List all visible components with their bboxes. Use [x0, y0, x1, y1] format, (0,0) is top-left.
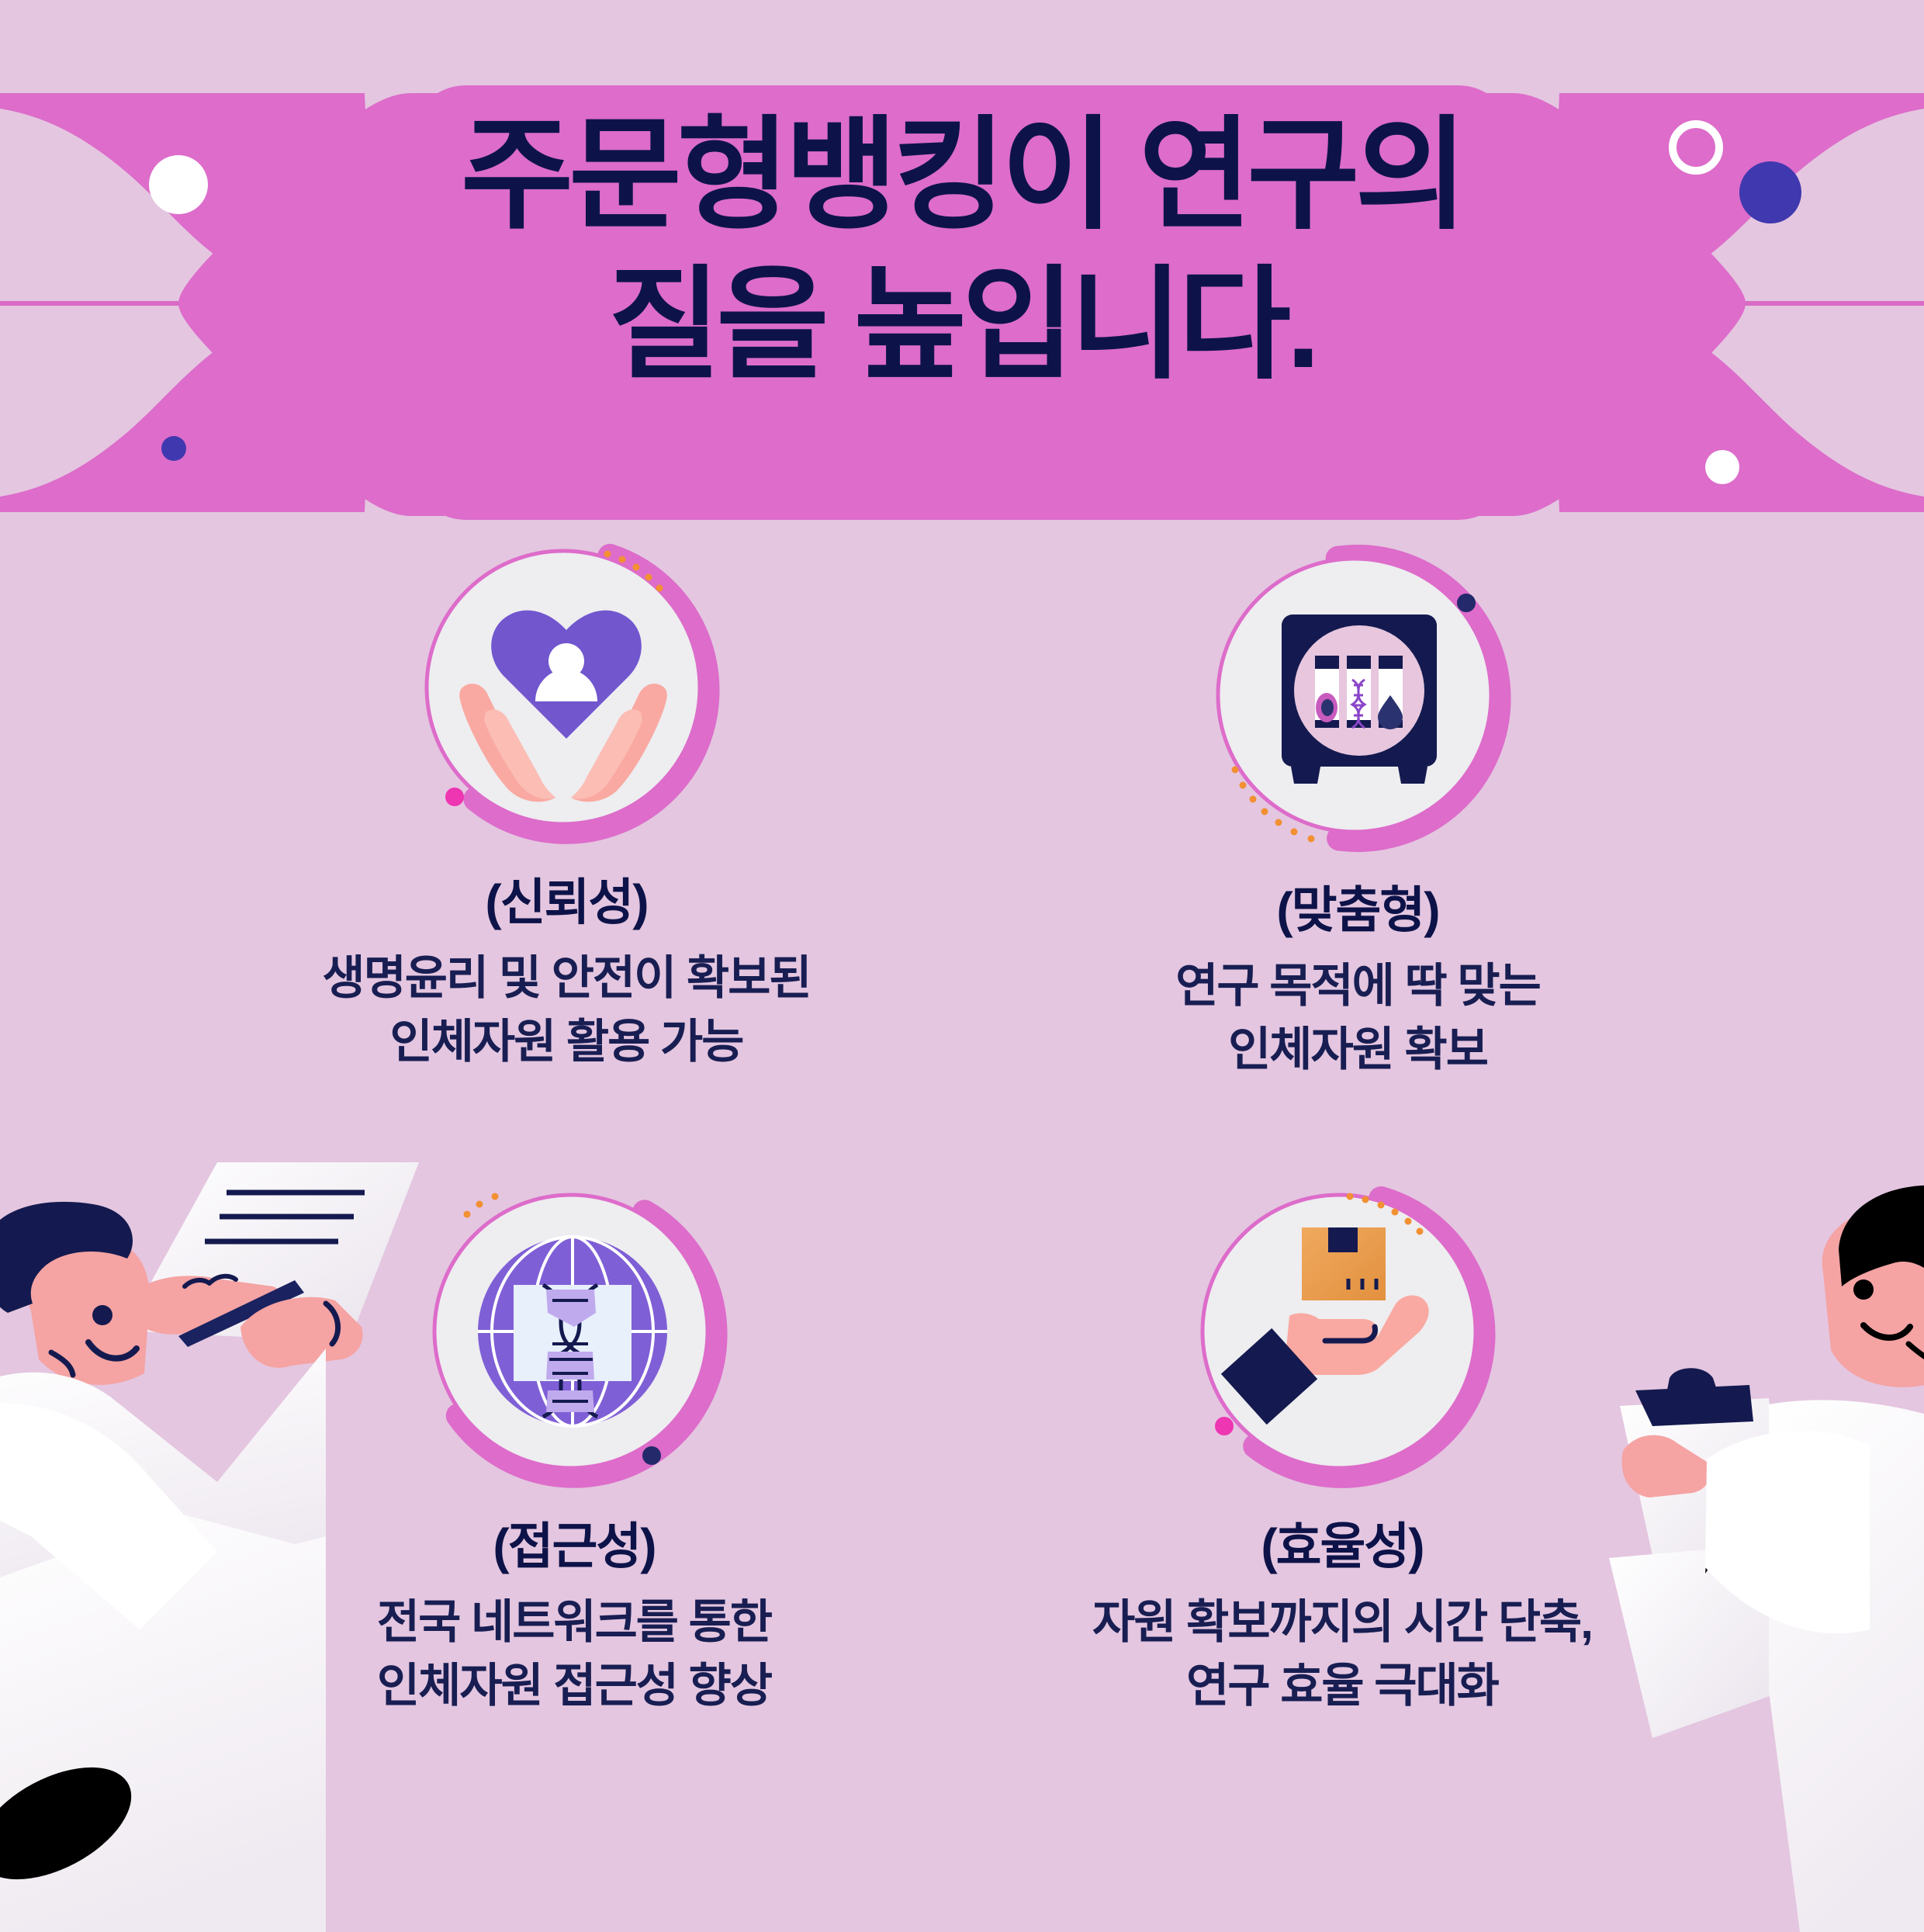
white-dot-small-icon — [1705, 450, 1739, 484]
box-label — [1328, 1227, 1358, 1252]
hand-delivery-box-icon — [1187, 1179, 1497, 1490]
icon-container-efficiency — [1187, 1179, 1497, 1490]
card-desc-trust: 생명윤리 및 안전이 확보된 인체자원 활용 가능 — [217, 947, 915, 1075]
small-blue-dot-icon — [161, 436, 186, 461]
icon-container-trust — [411, 535, 721, 846]
card-title-access: (접근성) — [225, 1518, 923, 1577]
card-desc-line-2: 인체자원 접근성 향상 — [225, 1654, 923, 1719]
banner-body — [411, 85, 1513, 520]
freezer-foot-right — [1398, 767, 1427, 784]
card-desc-line-2: 인체자원 확보 — [1009, 1018, 1707, 1082]
specimen-tubes — [1315, 656, 1403, 729]
freezer-foot-left — [1291, 767, 1320, 784]
card-title-custom: (맞춤형) — [1009, 881, 1707, 940]
blue-dot-icon — [1739, 161, 1801, 223]
card-desc-line-1: 연구 목적에 딱 맞는 — [1009, 954, 1707, 1019]
card-trust: (신뢰성) 생명윤리 및 안전이 확보된 인체자원 활용 가능 — [217, 535, 915, 1075]
infographic-canvas: 주문형뱅킹이 연구의 질을 높입니다. — [0, 0, 1924, 1924]
card-custom: (맞춤형) 연구 목적에 딱 맞는 인체자원 확보 — [1009, 543, 1707, 1082]
card-desc-line-1: 전국 네트워크를 통한 — [225, 1591, 923, 1655]
card-title-trust: (신뢰성) — [217, 874, 915, 933]
white-dot-large-icon — [149, 155, 208, 214]
card-efficiency: (효율성) 자원 확보까지의 시간 단축, 연구 효율 극대화 — [993, 1179, 1691, 1719]
eye — [1853, 1279, 1874, 1300]
eye — [92, 1305, 112, 1325]
card-desc-line-2: 연구 효율 극대화 — [993, 1654, 1691, 1719]
card-access: (접근성) 전국 네트워크를 통한 인체자원 접근성 향상 — [225, 1179, 923, 1719]
hands-holding-heart-icon — [411, 535, 721, 846]
card-desc-custom: 연구 목적에 딱 맞는 인체자원 확보 — [1009, 954, 1707, 1083]
card-desc-efficiency: 자원 확보까지의 시간 단축, 연구 효율 극대화 — [993, 1591, 1691, 1719]
icon-container-access — [419, 1179, 729, 1490]
card-title-efficiency: (효율성) — [993, 1518, 1691, 1577]
card-desc-access: 전국 네트워크를 통한 인체자원 접근성 향상 — [225, 1591, 923, 1719]
card-desc-line-1: 생명윤리 및 안전이 확보된 — [217, 947, 915, 1011]
biobank-freezer-icon — [1202, 543, 1513, 853]
card-desc-line-2: 인체자원 활용 가능 — [217, 1010, 915, 1075]
icon-container-custom — [1202, 543, 1513, 853]
card-desc-line-1: 자원 확보까지의 시간 단축, — [993, 1591, 1691, 1655]
globe-dna-network-icon — [419, 1179, 729, 1490]
